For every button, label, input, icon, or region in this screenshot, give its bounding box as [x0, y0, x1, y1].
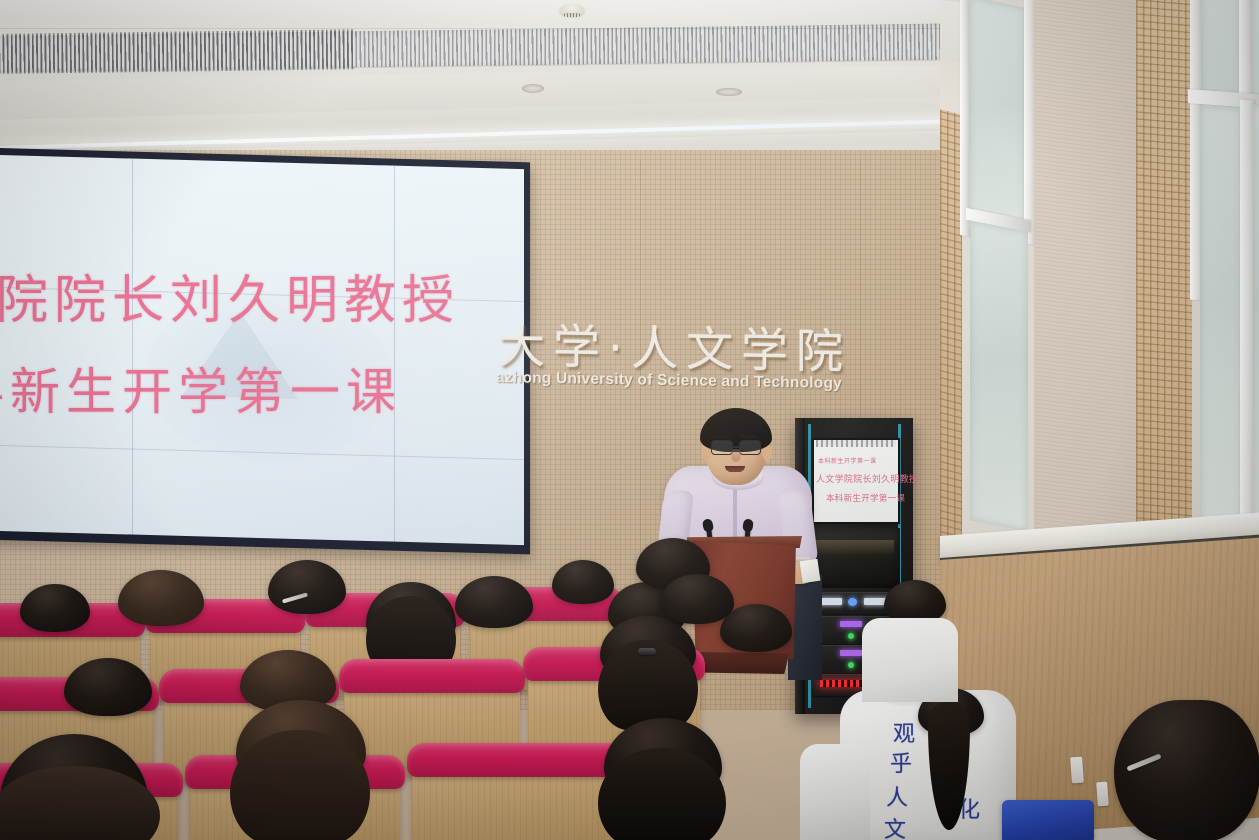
status-led-purple [840, 621, 862, 627]
rack-monitor-line-1: 人文学院院长刘久明教授 [816, 472, 918, 485]
eyeglasses-icon [739, 440, 761, 455]
seat[interactable] [412, 756, 622, 840]
tee-calligraphy-3: 人 [886, 786, 908, 812]
lectern-base [696, 652, 792, 674]
tee-calligraphy-2: 乎 [890, 752, 912, 778]
window-glass[interactable] [1200, 105, 1242, 538]
status-led-blue [848, 598, 857, 606]
rack-monitor-header [816, 440, 896, 447]
tee-calligraphy-4: 文 [884, 818, 906, 840]
slide-title-line-2: 科新生开学第一课 [0, 352, 402, 424]
speaker-eyebrow [713, 435, 731, 438]
screen-panel-seam [132, 159, 133, 535]
status-led-green [848, 662, 854, 668]
ceiling-speaker-icon [522, 84, 544, 93]
window-glass[interactable] [969, 0, 1025, 240]
eyeglasses-icon [711, 440, 733, 455]
window-glass[interactable] [970, 220, 1028, 531]
slide-title-line-1: 学院院长刘久明教授 [0, 258, 460, 333]
window-mullion [960, 0, 969, 237]
window-glass[interactable] [1253, 104, 1259, 545]
light-switch[interactable] [1070, 757, 1084, 784]
eyeglasses-bridge [731, 446, 739, 448]
speaker-nose [731, 449, 741, 462]
projection-screen[interactable] [0, 155, 524, 545]
hair-clip [638, 648, 656, 655]
power-outlet[interactable] [1096, 782, 1109, 807]
seat-cushion [339, 659, 525, 693]
tee-calligraphy-1: 观 [893, 722, 915, 748]
lecture-hall-photograph: 学院院长刘久明教授 科新生开学第一课 大学·人文学院 azhong Univer… [0, 0, 1259, 840]
audience-head [1114, 700, 1259, 840]
student-white-shirt [800, 744, 870, 840]
audience-head [552, 560, 614, 604]
seat-cushion [407, 743, 627, 777]
smoke-detector-icon [560, 4, 584, 16]
speaker-eyebrow [740, 435, 758, 438]
rack-monitor-line-2: 本科新生开学第一课 [826, 492, 905, 504]
hvac-grille-dark-section [0, 29, 354, 74]
status-led-purple [840, 650, 862, 656]
window-mullion [1240, 100, 1254, 541]
rack-glass-door[interactable] [812, 528, 900, 588]
speaker-mouth [725, 466, 745, 472]
paper-sheet[interactable] [800, 559, 821, 583]
classroom-chair[interactable] [1002, 800, 1094, 840]
status-led-white [820, 598, 842, 605]
status-led-green [848, 633, 854, 639]
audience-hair [230, 730, 370, 840]
student-white-shirt [862, 618, 958, 702]
acoustic-strip [940, 109, 962, 544]
rack-monitor-subtitle: 本科新生开学第一课 [818, 456, 877, 465]
ceiling-speaker-icon [716, 88, 742, 96]
